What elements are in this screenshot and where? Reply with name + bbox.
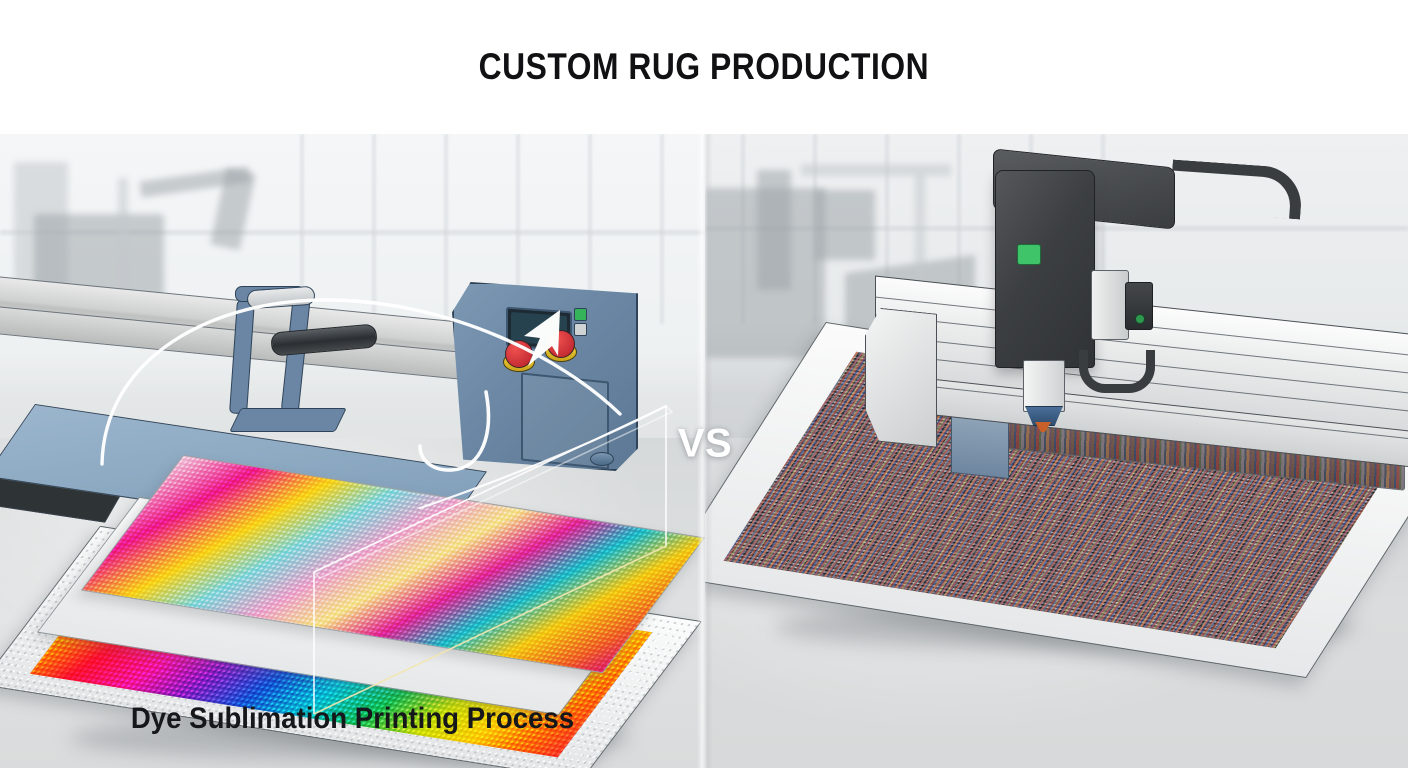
- title-band: CUSTOM RUG PRODUCTION: [0, 0, 1408, 134]
- print-carriage: [995, 170, 1095, 368]
- emergency-stop-button-right[interactable]: [547, 330, 575, 358]
- emergency-stop-button-left[interactable]: [505, 340, 533, 368]
- comparison-stage: Dye Sublimation Printing Process: [0, 134, 1408, 768]
- right-bg-prop-column: [757, 170, 791, 290]
- panel-digital-inkjet: Digital Inkjet Printing Process: [705, 134, 1408, 768]
- gantry-end-cap: [865, 306, 937, 448]
- page-title: CUSTOM RUG PRODUCTION: [479, 46, 929, 88]
- press-clamp-assembly[interactable]: [225, 282, 345, 432]
- power-indicator-icon: [574, 308, 587, 321]
- clamp-base-plate: [229, 408, 347, 432]
- sensor-indicator-icon: [1135, 314, 1145, 324]
- nozzle-control-block: [1091, 270, 1129, 340]
- versus-badge: VS: [678, 422, 732, 467]
- press-leveling-foot: [590, 452, 614, 466]
- panel-dye-sublimation: Dye Sublimation Printing Process: [0, 134, 705, 768]
- carriage-status-indicator-icon: [1017, 244, 1041, 265]
- clamp-arm-left: [229, 300, 255, 415]
- right-bg-prop-box: [815, 190, 875, 260]
- printer-support-leg: [951, 413, 1009, 479]
- print-head-body: [1023, 360, 1065, 412]
- right-bg-prop-beam: [801, 164, 951, 176]
- caption-dye-sublimation: Dye Sublimation Printing Process: [28, 702, 677, 736]
- infographic-root: CUSTOM RUG PRODUCTION: [0, 0, 1408, 768]
- ink-supply-tube: [1079, 350, 1155, 393]
- status-indicator-icon: [574, 323, 587, 336]
